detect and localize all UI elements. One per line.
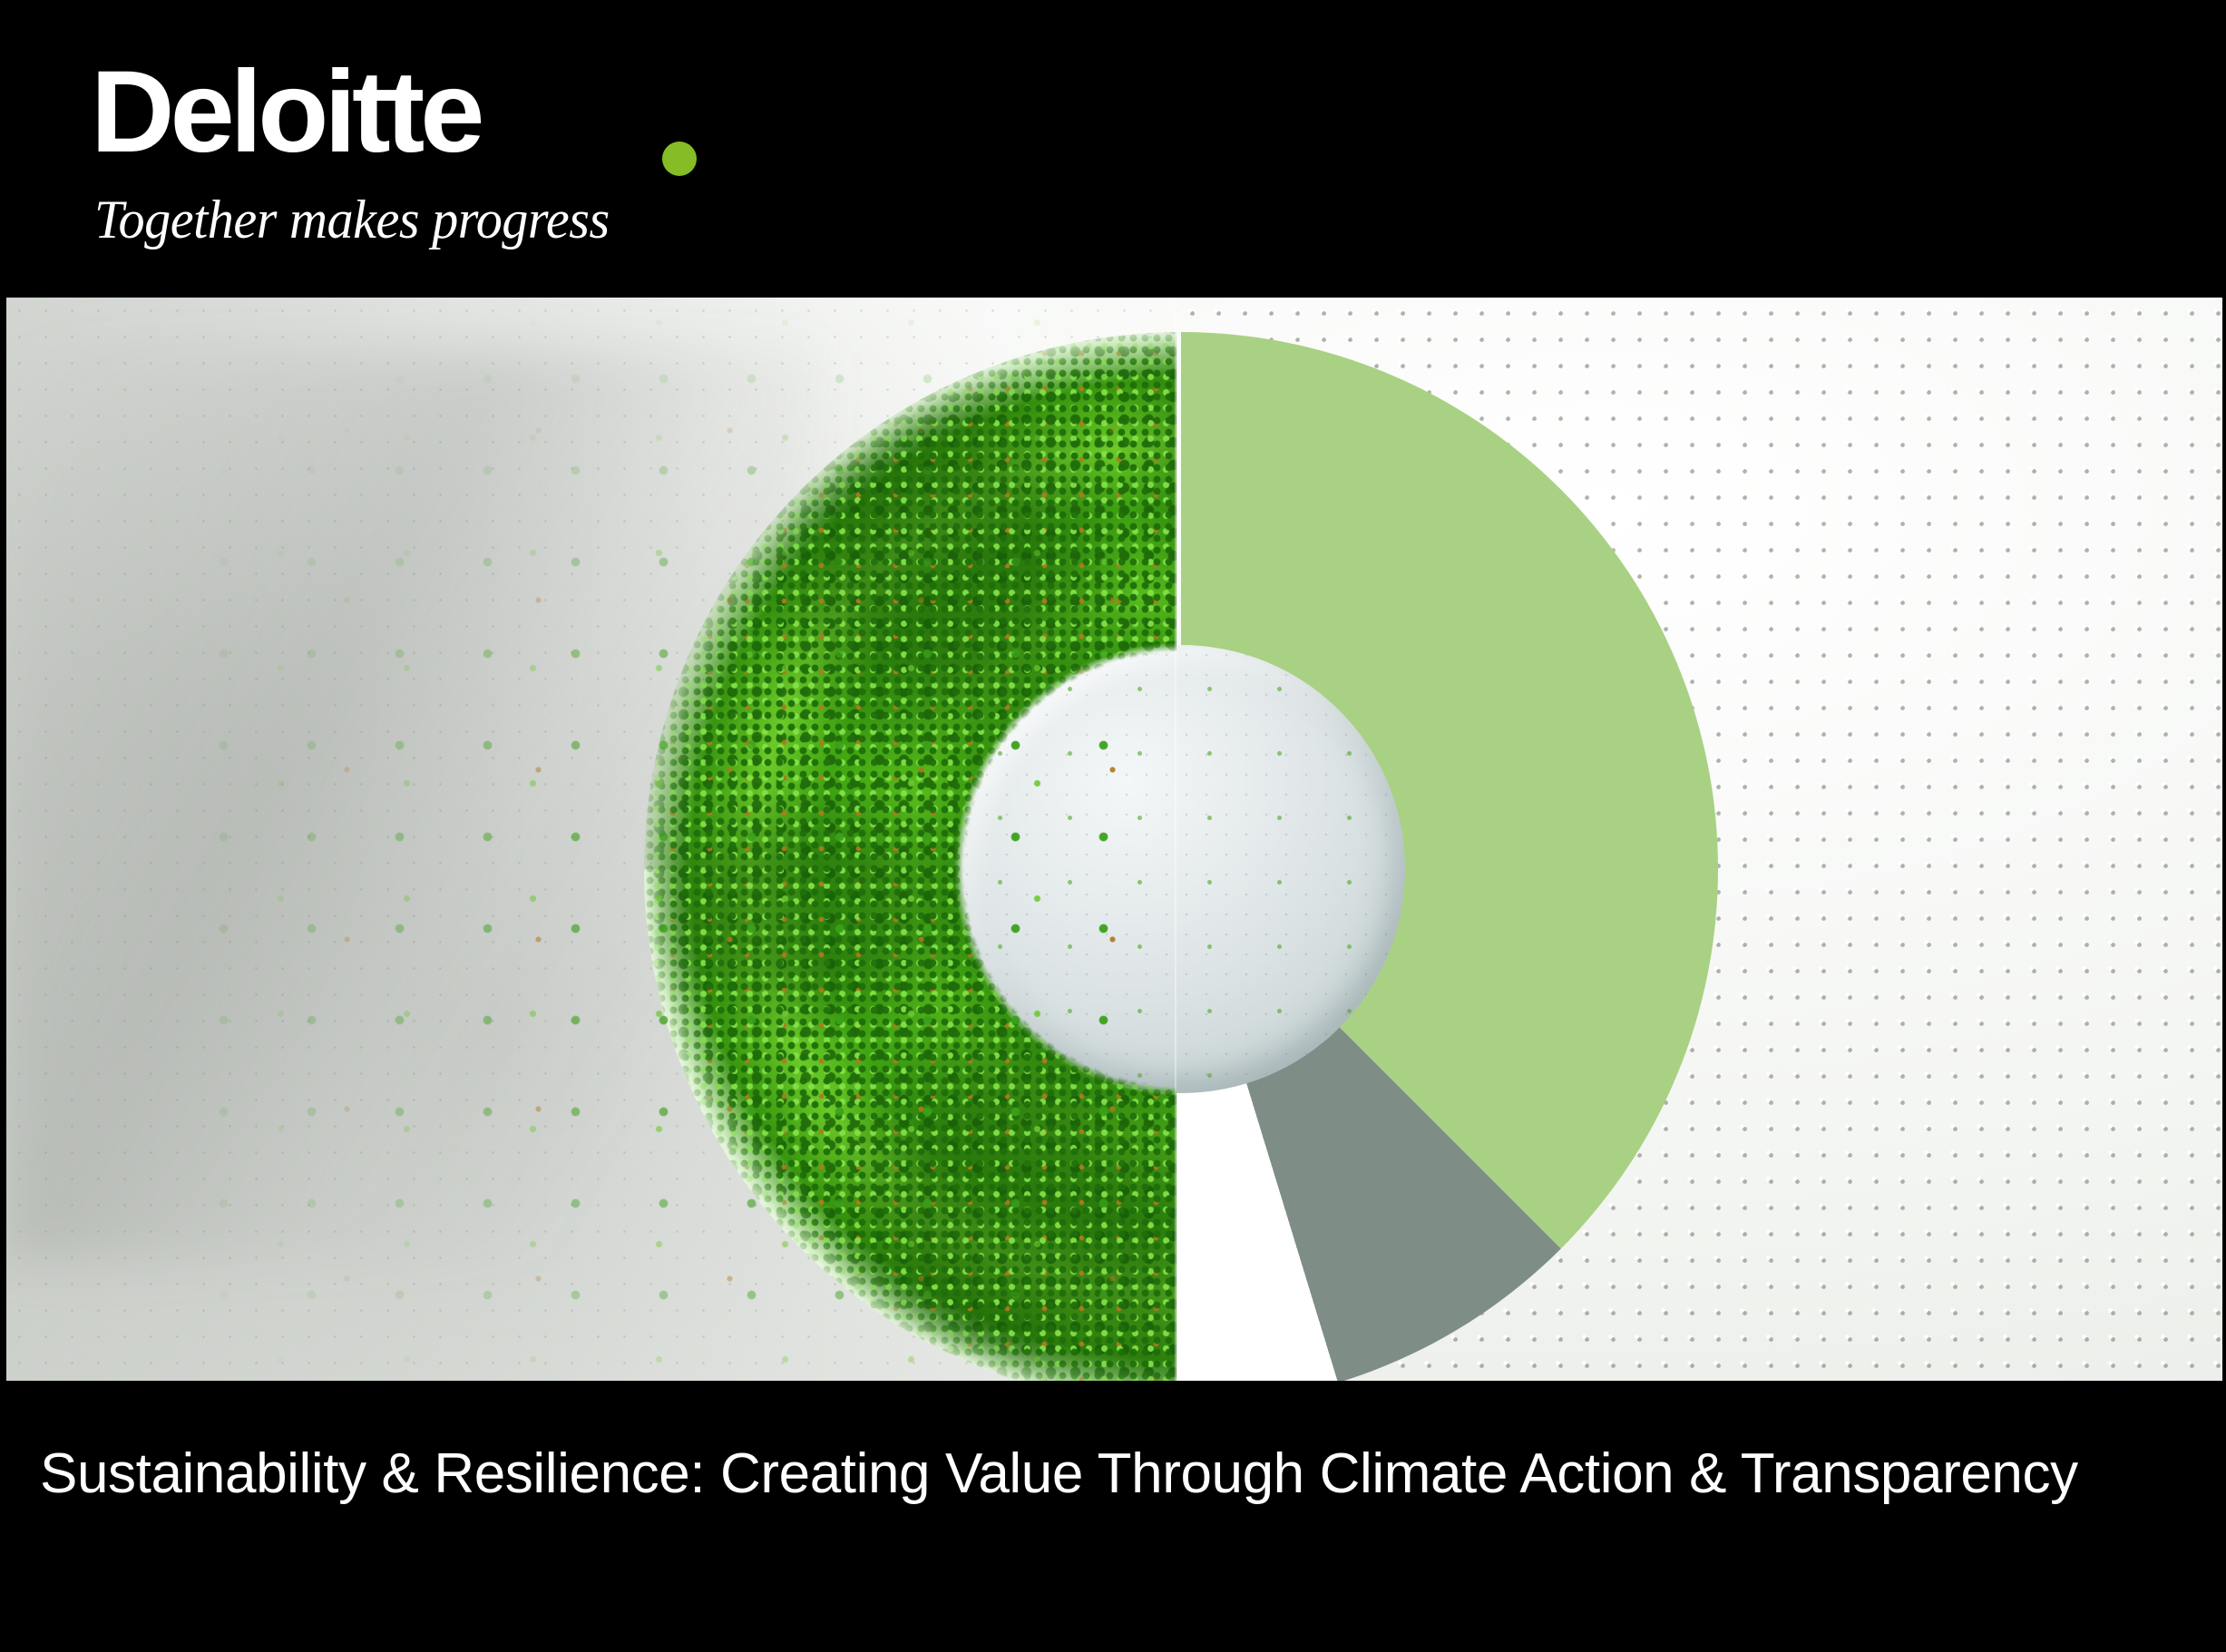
footer-bar: Sustainability & Resilience: Creating Va… [0, 1381, 2226, 1652]
scattered-particles [170, 316, 1131, 1368]
render-split-seam [1175, 298, 1177, 1381]
page-title: Sustainability & Resilience: Creating Va… [40, 1446, 2078, 1502]
brand-tagline: Together makes progress [94, 192, 610, 247]
deloitte-wordmark: Deloitte [91, 54, 480, 171]
green-dot-icon [662, 142, 697, 176]
moss-half-overlay [6, 298, 1176, 1381]
brand-logo-block: Deloitte Together makes progress [91, 54, 780, 272]
hero-image [6, 298, 2222, 1381]
